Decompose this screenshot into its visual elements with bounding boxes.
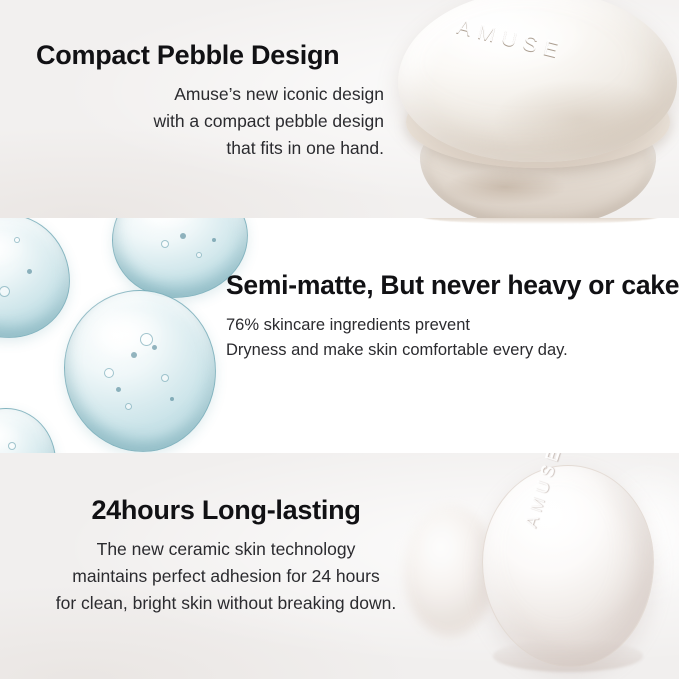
gel-bubble (104, 368, 114, 378)
gel-droplet (64, 290, 216, 452)
gel-bubble (0, 286, 10, 297)
gel-speck (152, 345, 157, 350)
gel-bubble (161, 240, 169, 248)
panel-2-body: 76% skincare ingredients prevent Dryness… (226, 313, 670, 363)
panel-1-copy-block: Compact Pebble Design Amuse’s new iconic… (24, 40, 384, 161)
gel-speck (27, 269, 32, 274)
panel-2-headline-line-1: Semi-matte, (226, 270, 373, 300)
panel-3-body: The new ceramic skin technology maintain… (6, 536, 446, 616)
brand-emboss-amuse: AMUSE (455, 15, 567, 65)
panel-1-body-line-2: with a compact pebble design (24, 108, 384, 135)
panel-2-headline: Semi-matte, But never heavy or cakey (226, 270, 670, 301)
panel-3-body-line-2: maintains perfect adhesion for 24 hours (6, 563, 446, 590)
gel-bubble (196, 252, 202, 258)
panel-3-body-line-1: The new ceramic skin technology (6, 536, 446, 563)
gel-speck (180, 233, 186, 239)
panel-1-headline: Compact Pebble Design (24, 40, 384, 71)
pebble-cushion-compact-image: AMUSE (398, 0, 679, 218)
panel-compact-pebble-design: AMUSE Compact Pebble Design Amuse’s new … (0, 0, 679, 218)
gel-bubble (140, 333, 153, 346)
gel-bubble (14, 237, 20, 243)
panel-1-body: Amuse’s new iconic design with a compact… (24, 81, 384, 161)
brand-emboss-amuse: AMUSE (521, 453, 566, 530)
panel-2-body-line-1: 76% skincare ingredients prevent (226, 313, 670, 338)
gel-droplet (0, 218, 70, 338)
panel-1-body-line-1: Amuse’s new iconic design (24, 81, 384, 108)
panel-semi-matte: Semi-matte, But never heavy or cakey 76%… (0, 218, 679, 453)
gel-bubble (8, 442, 16, 450)
gel-speck (212, 238, 216, 242)
panel-2-copy-block: Semi-matte, But never heavy or cakey 76%… (226, 270, 670, 363)
panel-3-body-line-3: for clean, bright skin without breaking … (6, 590, 446, 617)
gel-speck (170, 397, 174, 401)
gel-bubble (125, 403, 132, 410)
compact-bottom-sliver (420, 218, 660, 224)
panel-24hours-long-lasting: AMUSE 24hours Long-lasting The new ceram… (0, 453, 679, 679)
gel-speck (116, 387, 121, 392)
panel-3-headline: 24hours Long-lasting (6, 495, 446, 526)
panel-3-copy-block: 24hours Long-lasting The new ceramic ski… (6, 495, 446, 616)
compact-lid: AMUSE (398, 0, 677, 162)
gel-droplet (0, 408, 56, 453)
gel-bubble (161, 374, 169, 382)
product-feature-page: AMUSE Compact Pebble Design Amuse’s new … (0, 0, 679, 679)
pebble-main-body: AMUSE (482, 465, 654, 667)
frosted-pebble-compact-image: AMUSE (420, 453, 679, 679)
gel-speck (131, 352, 137, 358)
panel-2-body-line-2: Dryness and make skin comfortable every … (226, 338, 670, 363)
panel-1-body-line-3: that fits in one hand. (24, 135, 384, 162)
panel-2-headline-line-2: But never heavy or cakey (380, 270, 679, 300)
